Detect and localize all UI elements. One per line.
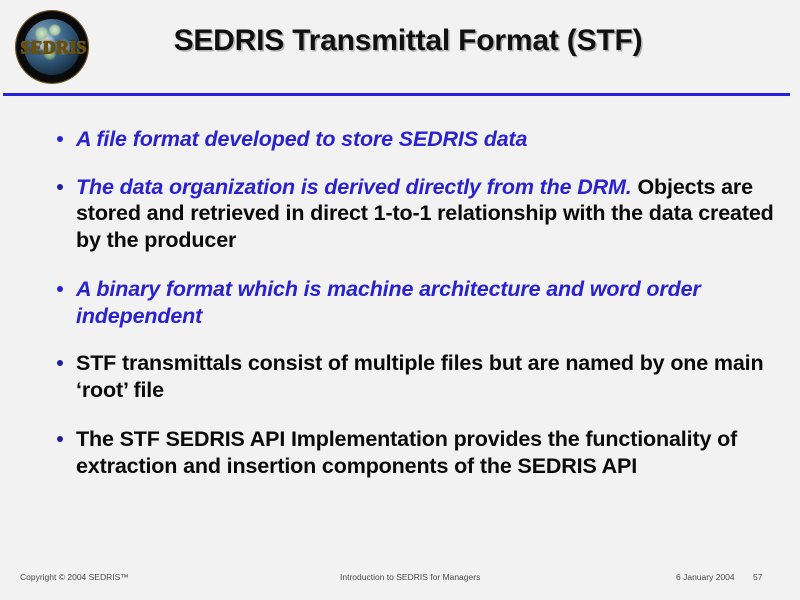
bullet-marker-icon bbox=[57, 360, 63, 366]
bullet-text: A file format developed to store SEDRIS … bbox=[76, 127, 527, 151]
bullet-item: A file format developed to store SEDRIS … bbox=[50, 126, 776, 153]
sedris-globe-logo: SEDRIS bbox=[11, 11, 93, 83]
presentation-slide: SEDRIS SEDRIS Transmittal Format (STF) A… bbox=[0, 0, 800, 600]
footer-subject: Introduction to SEDRIS for Managers bbox=[340, 572, 480, 582]
bullet-text: The STF SEDRIS API Implementation provid… bbox=[76, 427, 737, 478]
footer-page-number: 57 bbox=[753, 572, 762, 582]
slide-header: SEDRIS SEDRIS Transmittal Format (STF) bbox=[0, 0, 800, 95]
bullet-item: A binary format which is machine archite… bbox=[50, 276, 776, 329]
bullet-marker-icon bbox=[57, 436, 63, 442]
bullet-text: A binary format which is machine archite… bbox=[76, 277, 701, 328]
footer-date: 6 January 2004 bbox=[676, 572, 735, 582]
bullet-item: The STF SEDRIS API Implementation provid… bbox=[50, 426, 776, 479]
bullet-text-emphasis: The data organization is derived directl… bbox=[76, 175, 632, 199]
slide-footer: Copyright © 2004 SEDRIS™ Introduction to… bbox=[0, 572, 800, 588]
bullet-marker-icon bbox=[57, 136, 63, 142]
bullet-marker-icon bbox=[57, 184, 63, 190]
bullet-marker-icon bbox=[57, 286, 63, 292]
footer-copyright: Copyright © 2004 SEDRIS™ bbox=[20, 572, 129, 582]
page-title: SEDRIS Transmittal Format (STF) bbox=[108, 24, 708, 58]
logo-wordmark: SEDRIS bbox=[20, 38, 84, 56]
slide-body: A file format developed to store SEDRIS … bbox=[50, 126, 776, 479]
title-divider bbox=[3, 93, 790, 96]
bullet-item: STF transmittals consist of multiple fil… bbox=[50, 350, 776, 403]
bullet-item: The data organization is derived directl… bbox=[50, 174, 776, 254]
bullet-text: STF transmittals consist of multiple fil… bbox=[76, 351, 764, 402]
